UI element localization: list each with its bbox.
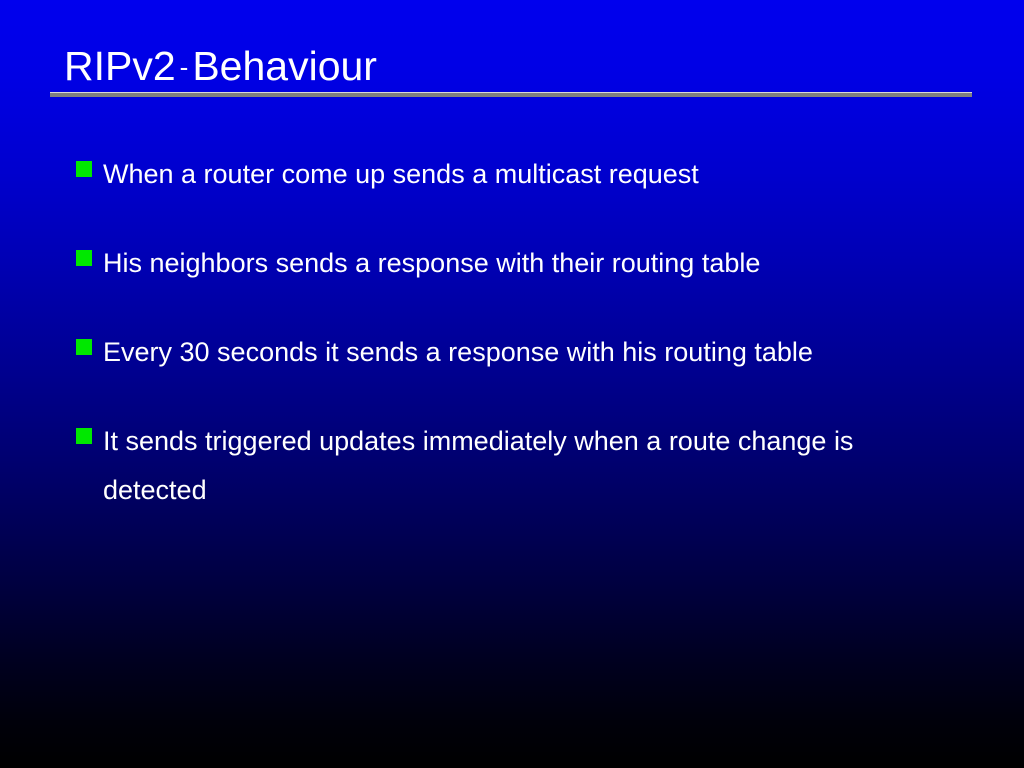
title-main-text: RIPv2 [64, 43, 176, 89]
list-item: His neighbors sends a response with thei… [76, 239, 976, 288]
square-bullet-icon [76, 250, 92, 266]
square-bullet-icon [76, 161, 92, 177]
title-dash: - [176, 52, 193, 82]
square-bullet-icon [76, 339, 92, 355]
title-block: RIPv2-Behaviour [50, 42, 974, 104]
title-underline-rule [50, 92, 972, 97]
title-rest-text: Behaviour [192, 43, 377, 89]
list-item: It sends triggered updates immediately w… [76, 417, 976, 515]
presentation-slide: RIPv2-Behaviour When a router come up se… [0, 0, 1024, 768]
list-item: Every 30 seconds it sends a response wit… [76, 328, 976, 377]
list-item-label: It sends triggered updates immediately w… [103, 417, 893, 515]
list-item-label: Every 30 seconds it sends a response wit… [103, 328, 893, 377]
page-title: RIPv2-Behaviour [50, 42, 974, 91]
list-item-label: When a router come up sends a multicast … [103, 150, 893, 199]
bullet-list: When a router come up sends a multicast … [76, 150, 976, 515]
square-bullet-icon [76, 428, 92, 444]
list-item-label: His neighbors sends a response with thei… [103, 239, 893, 288]
list-item: When a router come up sends a multicast … [76, 150, 976, 199]
